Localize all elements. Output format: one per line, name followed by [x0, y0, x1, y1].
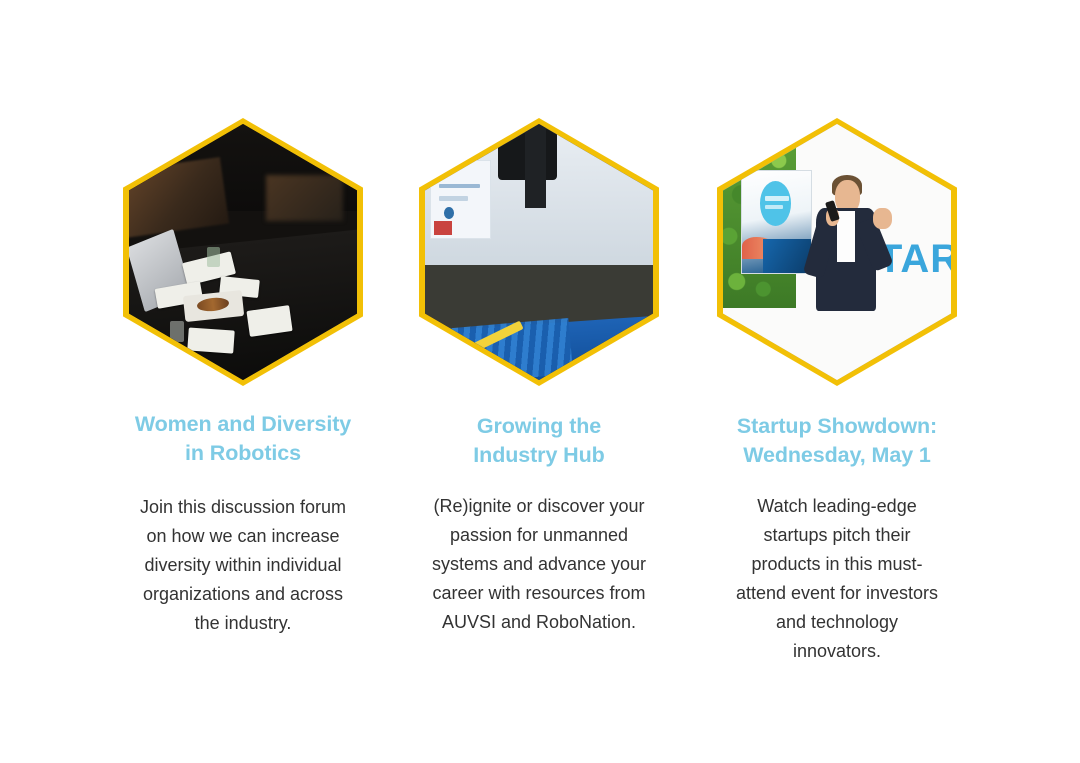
- photo-banner-accent: [434, 221, 452, 235]
- photo-banner-line: [439, 196, 469, 201]
- body-line: systems and advance your: [411, 550, 667, 579]
- body-line: the industry.: [119, 609, 367, 638]
- photo-activity-kit: [427, 318, 573, 380]
- hexagon-photo-clip: [425, 124, 653, 380]
- heading-line: Women and Diversity: [117, 410, 369, 439]
- photo-truss: [525, 124, 546, 208]
- body-line: career with resources from: [411, 579, 667, 608]
- photo-shirt: [837, 211, 855, 262]
- photo-kids-at-booth: [425, 124, 653, 380]
- photo-glasses-lens: [425, 124, 429, 128]
- heading-line: Startup Showdown:: [706, 412, 968, 441]
- photo-carpet: [129, 157, 229, 239]
- photo-screen-text-line: [765, 196, 788, 201]
- card-body-women-and-diversity: Join this discussion forum on how we can…: [119, 493, 367, 638]
- photo-presentation-screen: [741, 170, 811, 274]
- body-line: innovators.: [719, 637, 955, 666]
- body-line: organizations and across: [119, 580, 367, 609]
- hexagon-image-growing-the-industry-hub[interactable]: [419, 118, 659, 386]
- hexagon-photo-clip: STAR: [723, 124, 951, 380]
- body-line: attend event for investors: [719, 579, 955, 608]
- card-body-growing-the-industry-hub: (Re)ignite or discover your passion for …: [411, 492, 667, 637]
- photo-roundtable-discussion: [129, 124, 357, 380]
- hexagon-image-women-and-diversity[interactable]: [123, 118, 363, 386]
- photo-screen-circle: [760, 181, 791, 226]
- card-women-and-diversity[interactable]: Women and Diversity in Robotics Join thi…: [110, 118, 376, 638]
- body-line: Join this discussion forum: [119, 493, 367, 522]
- body-line: and technology: [719, 608, 955, 637]
- photo-screen-text-line: [765, 205, 783, 209]
- photo-carpet-secondary: [266, 175, 344, 221]
- card-heading-startup-showdown: Startup Showdown: Wednesday, May 1: [706, 412, 968, 470]
- heading-line: Wednesday, May 1: [706, 441, 968, 470]
- body-line: startups pitch their: [719, 521, 955, 550]
- page-root: Women and Diversity in Robotics Join thi…: [0, 0, 1080, 763]
- photo-booth-banner: [430, 160, 491, 239]
- body-line: diversity within individual: [119, 551, 367, 580]
- photo-glass: [170, 321, 184, 341]
- body-line: AUVSI and RoboNation.: [411, 608, 667, 637]
- card-startup-showdown[interactable]: STAR: [704, 118, 970, 666]
- body-line: passion for unmanned: [411, 521, 667, 550]
- card-row: Women and Diversity in Robotics Join thi…: [110, 118, 970, 666]
- heading-line: in Robotics: [117, 439, 369, 468]
- card-growing-the-industry-hub[interactable]: Growing the Industry Hub (Re)ignite or d…: [406, 118, 672, 637]
- body-line: products in this must-: [719, 550, 955, 579]
- photo-paper: [188, 327, 235, 353]
- heading-line: Growing the: [413, 412, 665, 441]
- card-heading-women-and-diversity: Women and Diversity in Robotics: [117, 410, 369, 468]
- body-line: (Re)ignite or discover your: [411, 492, 667, 521]
- hexagon-photo-clip: [129, 124, 357, 380]
- card-heading-growing-the-industry-hub: Growing the Industry Hub: [413, 412, 665, 470]
- photo-banner-line: [439, 184, 480, 189]
- card-body-startup-showdown: Watch leading-edge startups pitch their …: [719, 492, 955, 666]
- photo-hand: [873, 208, 891, 228]
- body-line: on how we can increase: [119, 522, 367, 551]
- photo-banner-logo: [444, 207, 455, 219]
- photo-startup-stage: STAR: [723, 124, 951, 380]
- hexagon-image-startup-showdown[interactable]: STAR: [717, 118, 957, 386]
- photo-glasses-lens: [425, 124, 429, 128]
- photo-glass: [207, 247, 221, 267]
- body-line: Watch leading-edge: [719, 492, 955, 521]
- heading-line: Industry Hub: [413, 441, 665, 470]
